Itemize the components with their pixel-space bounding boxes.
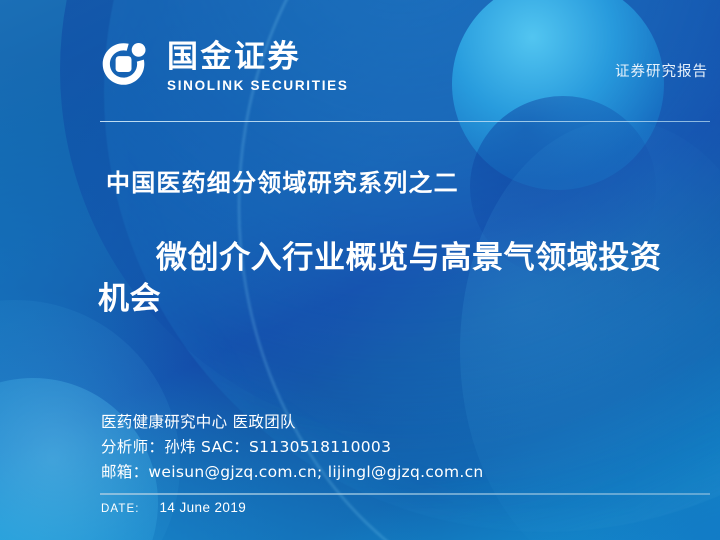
date-row: DATE: 14 June 2019 xyxy=(101,500,246,515)
footer-divider xyxy=(100,493,710,495)
page-title: 微创介入行业概览与高景气领域投资机会 xyxy=(98,238,670,320)
brand-logo: 国金证券 SINOLINK SECURITIES xyxy=(100,40,349,94)
research-team: 医药健康研究中心 医政团队 xyxy=(101,410,484,435)
series-title: 中国医药细分领域研究系列之二 xyxy=(106,163,459,198)
email-line: 邮箱：weisun@gjzq.com.cn; lijingl@gjzq.com.… xyxy=(101,460,484,485)
analyst-line: 分析师：孙炜 SAC：S1130518110003 xyxy=(101,435,484,460)
brand-name-cn: 国金证券 xyxy=(167,41,349,74)
report-cover-slide: 国金证券 SINOLINK SECURITIES 证券研究报告 中国医药细分领域… xyxy=(0,0,720,540)
date-value: 14 June 2019 xyxy=(160,500,247,515)
brand-name-en: SINOLINK SECURITIES xyxy=(167,78,349,93)
header-divider xyxy=(100,121,710,122)
date-label: DATE: xyxy=(101,503,140,515)
report-type-tag: 证券研究报告 xyxy=(615,60,708,81)
sinolink-circle-mark-icon xyxy=(100,40,154,94)
author-block: 医药健康研究中心 医政团队 分析师：孙炜 SAC：S1130518110003 … xyxy=(101,410,484,485)
brand-logo-text: 国金证券 SINOLINK SECURITIES xyxy=(167,41,349,93)
